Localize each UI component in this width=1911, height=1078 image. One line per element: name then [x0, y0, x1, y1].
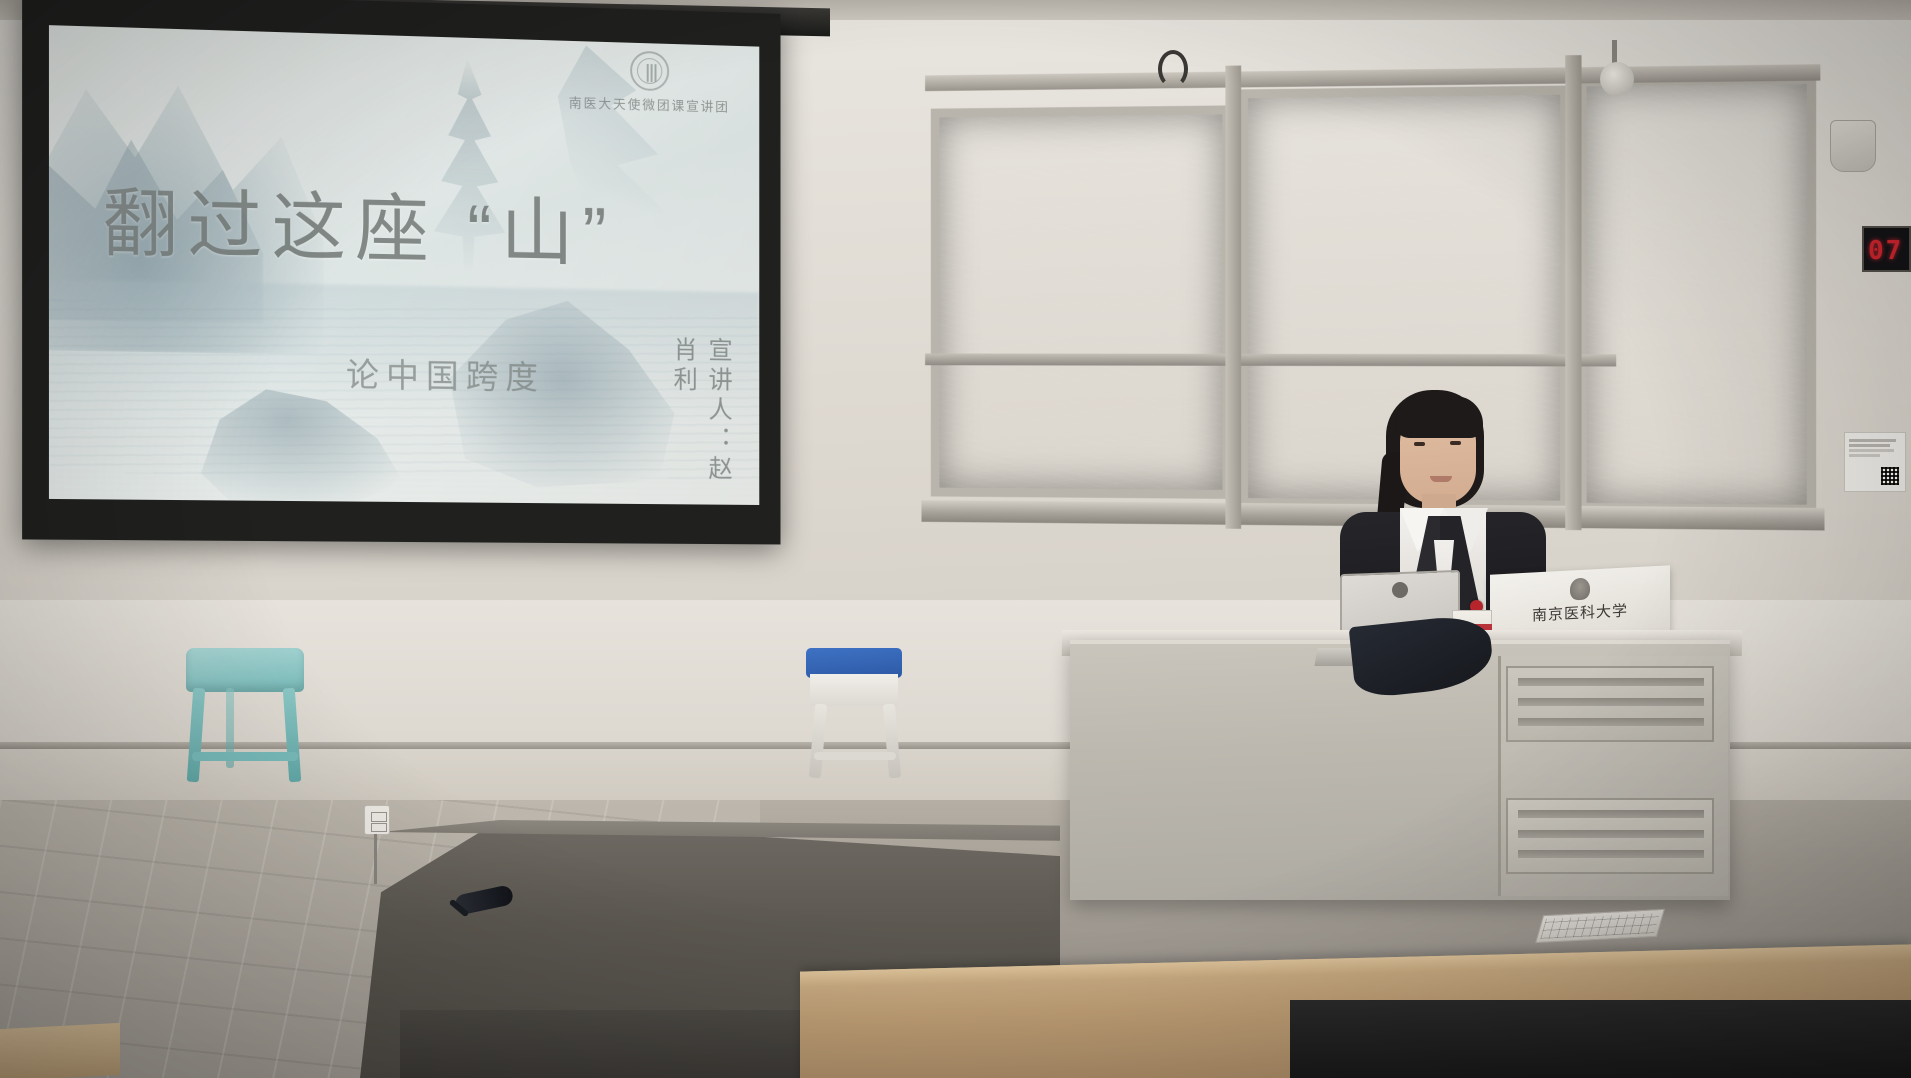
presenter-fringe	[1395, 396, 1483, 438]
slide-brand-block: 南医大天使微团课宣讲团	[557, 48, 742, 116]
university-emblem-icon	[1570, 577, 1590, 600]
teal-plastic-stool[interactable]	[186, 648, 306, 783]
cabinet-vent-upper	[1506, 666, 1714, 742]
classroom-scene: 南医大天使微团课宣讲团 翻过这座 “山” 论中国跨度 宣讲人：赵肖利	[0, 0, 1911, 1078]
wall-power-outlet[interactable]	[364, 805, 390, 835]
laptop-hinge	[1392, 582, 1408, 598]
chalk-texture	[1587, 84, 1807, 505]
cabinet-vent-lower	[1506, 798, 1714, 874]
qr-code-icon	[1881, 467, 1899, 485]
university-name-text: 南京医科大学	[1490, 597, 1670, 627]
projection-screen[interactable]: 南医大天使微团课宣讲团 翻过这座 “山” 论中国跨度 宣讲人：赵肖利	[22, 0, 780, 544]
chalk-texture	[939, 114, 1222, 489]
stool-rail	[814, 752, 896, 760]
blackboard-panel-left[interactable]	[931, 105, 1231, 499]
presenter-eye-right	[1450, 441, 1461, 445]
stool-leg	[283, 688, 302, 783]
slide-speaker-label: 宣讲人：赵肖利	[666, 336, 736, 505]
foreground-desk-underside	[1290, 1000, 1911, 1078]
stool-body	[810, 674, 898, 706]
power-cord	[374, 834, 377, 884]
presenter-eye-left	[1414, 442, 1425, 446]
slide-subtitle: 论中国跨度	[346, 348, 545, 399]
presentation-slide[interactable]: 南医大天使微团课宣讲团 翻过这座 “山” 论中国跨度 宣讲人：赵肖利	[49, 25, 759, 505]
led-clock-value: 07	[1868, 236, 1903, 266]
led-clock-display: 07	[1862, 226, 1911, 272]
blue-top-stool[interactable]	[806, 648, 906, 778]
stool-leg	[187, 688, 206, 783]
foreground-bench-left	[0, 1023, 120, 1078]
keyboard-keys	[1540, 913, 1659, 939]
blackboard-divider-post	[1565, 55, 1581, 530]
ceiling-hook-icon	[1158, 50, 1188, 88]
wall-notice-poster	[1844, 432, 1906, 492]
stool-leg	[883, 704, 901, 779]
blackboard-divider-post	[1225, 66, 1241, 529]
stool-leg	[809, 704, 827, 779]
blackboard-panel-right[interactable]	[1577, 75, 1816, 515]
ceiling-lamp	[1600, 62, 1634, 96]
stool-seat	[186, 648, 304, 692]
presenter-mouth	[1430, 476, 1452, 482]
blackboard-mid-rail	[925, 353, 1616, 366]
wall-speaker	[1830, 120, 1876, 172]
slide-title: 翻过这座 “山”	[102, 163, 615, 281]
university-seal-icon	[630, 51, 669, 92]
stool-rail	[192, 752, 298, 761]
